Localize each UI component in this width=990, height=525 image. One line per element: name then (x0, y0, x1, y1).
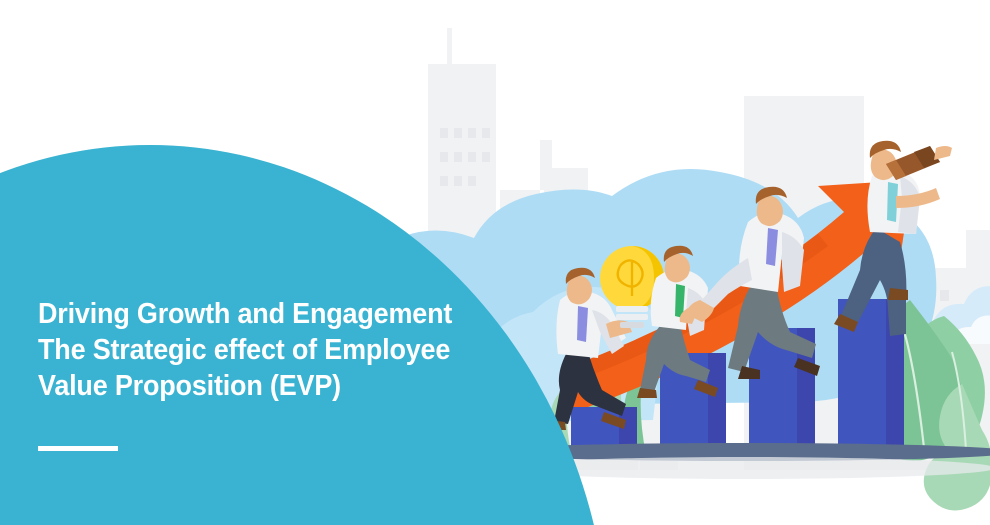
hero-banner: Driving Growth and Engagement The Strate… (0, 0, 990, 525)
headline-accent-rule (38, 446, 118, 451)
teal-panel (0, 0, 990, 525)
teal-ellipse-shade (0, 145, 610, 525)
